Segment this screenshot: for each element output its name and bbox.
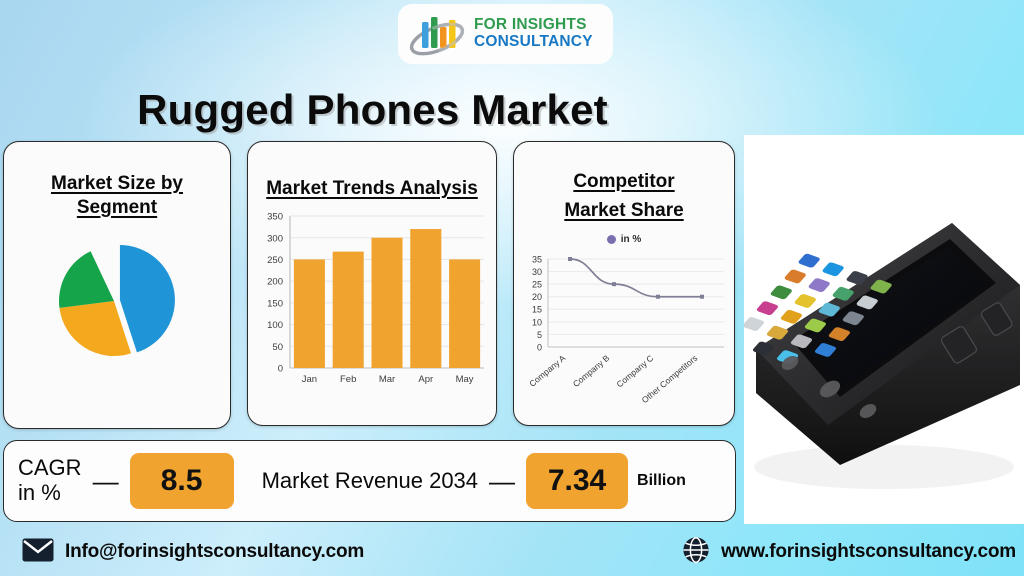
svg-text:350: 350 <box>267 212 283 223</box>
card-competitor-market-share: Competitor Market Share in % 05101520253… <box>513 141 735 426</box>
card-title-pie-line2: Segment <box>4 196 230 220</box>
svg-text:Mar: Mar <box>379 374 395 385</box>
card-title-bar: Market Trends Analysis <box>248 142 496 200</box>
svg-text:0: 0 <box>278 364 283 375</box>
svg-text:200: 200 <box>267 277 283 288</box>
svg-text:25: 25 <box>532 280 542 290</box>
svg-text:Company A: Company A <box>527 353 567 389</box>
cagr-value-pill: 8.5 <box>130 453 234 509</box>
revenue-dash: — <box>489 466 515 497</box>
revenue-label: Market Revenue 2034 <box>262 469 478 494</box>
svg-text:100: 100 <box>267 320 283 331</box>
rugged-smartphone-photo <box>744 135 1024 524</box>
card-title-pie: Market Size by Segment <box>4 142 230 220</box>
bar-chart: 050100150200250300350JanFebMarAprMay <box>248 208 496 394</box>
cagr-dash: — <box>93 466 119 497</box>
bar-chart-svg: 050100150200250300350JanFebMarAprMay <box>248 208 496 394</box>
logo-text-line1: FOR INSIGHTS <box>474 17 593 34</box>
website-text: www.forinsightsconsultancy.com <box>721 541 1016 563</box>
cagr-label-line2: in % <box>18 481 82 506</box>
svg-text:Apr: Apr <box>418 374 433 385</box>
email-text: Info@forinsightsconsultancy.com <box>65 541 364 563</box>
stats-bar: CAGR in % — 8.5 Market Revenue 2034 — 7.… <box>3 440 736 522</box>
svg-text:30: 30 <box>532 267 542 277</box>
svg-text:300: 300 <box>267 233 283 244</box>
card-title-line: Competitor Market Share <box>514 142 734 225</box>
logo-text-line2: CONSULTANCY <box>474 34 593 51</box>
cagr-label-line1: CAGR <box>18 456 82 481</box>
page-title: Rugged Phones Market <box>0 86 745 134</box>
revenue-value-pill: 7.34 <box>526 453 628 509</box>
svg-text:Feb: Feb <box>340 374 356 385</box>
svg-text:35: 35 <box>532 254 542 264</box>
svg-text:250: 250 <box>267 255 283 266</box>
revenue-unit: Billion <box>637 472 686 490</box>
rugged-smartphone-illustration <box>744 135 1024 524</box>
svg-text:Company B: Company B <box>571 353 612 389</box>
pie-chart-svg <box>52 236 182 366</box>
svg-text:Jan: Jan <box>302 374 317 385</box>
svg-text:0: 0 <box>537 342 542 352</box>
company-logo: FOR INSIGHTS CONSULTANCY <box>398 4 613 64</box>
footer-bar: Info@forinsightsconsultancy.com www.fori… <box>0 528 1024 576</box>
logo-text: FOR INSIGHTS CONSULTANCY <box>474 17 593 50</box>
line-chart: 05101520253035Company ACompany BCompany … <box>514 249 734 409</box>
card-market-size-by-segment: Market Size by Segment <box>3 141 231 429</box>
pie-chart <box>4 236 230 386</box>
card-title-line-line1: Competitor <box>514 168 734 197</box>
svg-text:50: 50 <box>272 342 283 353</box>
bar-chart-orbit-logo-icon <box>406 9 468 59</box>
svg-text:20: 20 <box>532 292 542 302</box>
globe-icon <box>682 536 710 569</box>
legend-dot-icon <box>607 235 616 244</box>
line-chart-legend: in % <box>514 234 734 245</box>
line-chart-svg: 05101520253035Company ACompany BCompany … <box>514 249 734 409</box>
card-market-trends-analysis: Market Trends Analysis 05010015020025030… <box>247 141 497 426</box>
cagr-label: CAGR in % <box>18 456 82 505</box>
svg-text:15: 15 <box>532 305 542 315</box>
svg-text:10: 10 <box>532 317 542 327</box>
card-title-pie-line1: Market Size by <box>4 172 230 196</box>
footer-email[interactable]: Info@forinsightsconsultancy.com <box>22 538 364 567</box>
svg-text:Company C: Company C <box>614 353 655 390</box>
legend-label: in % <box>621 234 642 245</box>
svg-text:5: 5 <box>537 330 542 340</box>
email-icon <box>22 538 54 567</box>
svg-text:May: May <box>456 374 474 385</box>
card-title-line-line2: Market Share <box>514 197 734 226</box>
svg-text:150: 150 <box>267 298 283 309</box>
footer-website[interactable]: www.forinsightsconsultancy.com <box>682 536 1016 569</box>
